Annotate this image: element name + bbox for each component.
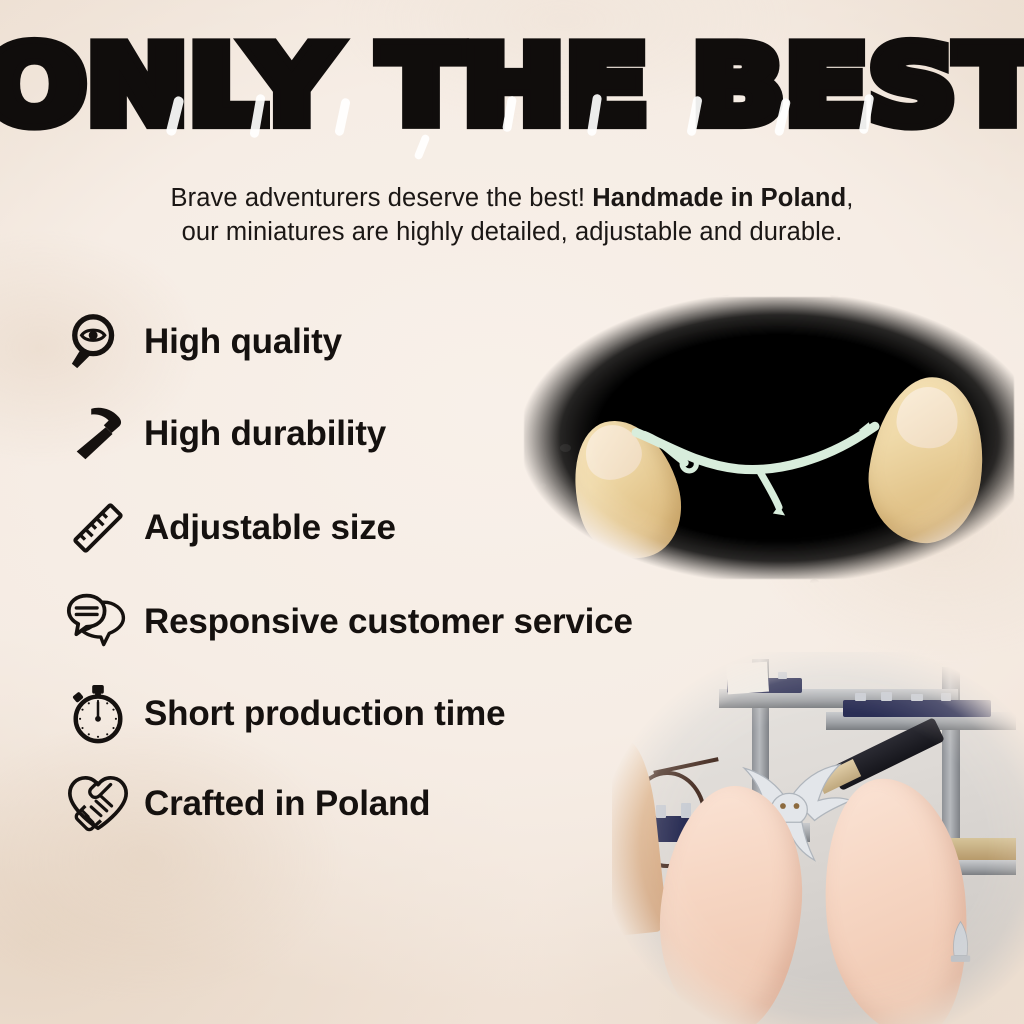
feature-item-short-production-time: Short production time	[62, 678, 633, 750]
feature-list: High quality High durability Adjustable …	[62, 306, 633, 862]
subtitle-line-2: our miniatures are highly detailed, adju…	[0, 216, 1024, 250]
subtitle: Brave adventurers deserve the best! Hand…	[0, 182, 1024, 249]
subtitle-line-1: Brave adventurers deserve the best! Hand…	[0, 182, 1024, 216]
feature-item-adjustable-size: Adjustable size	[62, 492, 633, 564]
flexed-miniature-part	[626, 400, 932, 522]
subtitle-line1-suffix: ,	[846, 184, 853, 212]
heart-handshake-icon	[62, 772, 134, 836]
ruler-icon	[62, 496, 134, 560]
page-title: ONLY THE BEST	[0, 33, 1024, 139]
page-title-wrap: ONLY THE BEST	[0, 34, 1024, 138]
workshop-painting-photo	[612, 652, 1024, 1024]
magnifier-eye-icon	[62, 310, 134, 374]
feature-item-crafted-in-poland: Crafted in Poland	[62, 768, 633, 840]
feature-label: High quality	[144, 322, 342, 362]
subtitle-line1-bold: Handmade in Poland	[592, 184, 846, 212]
feature-label: High durability	[144, 414, 386, 454]
feature-label: Adjustable size	[144, 508, 396, 548]
feature-label: Responsive customer service	[144, 602, 633, 642]
shelf-label-card	[726, 662, 769, 695]
feature-label: Short production time	[144, 694, 505, 734]
feature-item-high-durability: High durability	[62, 398, 633, 470]
feature-label: Crafted in Poland	[144, 784, 430, 824]
stopwatch-icon	[62, 682, 134, 746]
feature-item-responsive-customer-service: Responsive customer service	[62, 586, 633, 658]
feature-item-high-quality: High quality	[62, 306, 633, 378]
speech-bubbles-icon	[62, 590, 134, 654]
hammer-icon	[62, 402, 134, 466]
shelf-miniature	[942, 920, 979, 968]
subtitle-line1-prefix: Brave adventurers deserve the best!	[171, 184, 593, 212]
